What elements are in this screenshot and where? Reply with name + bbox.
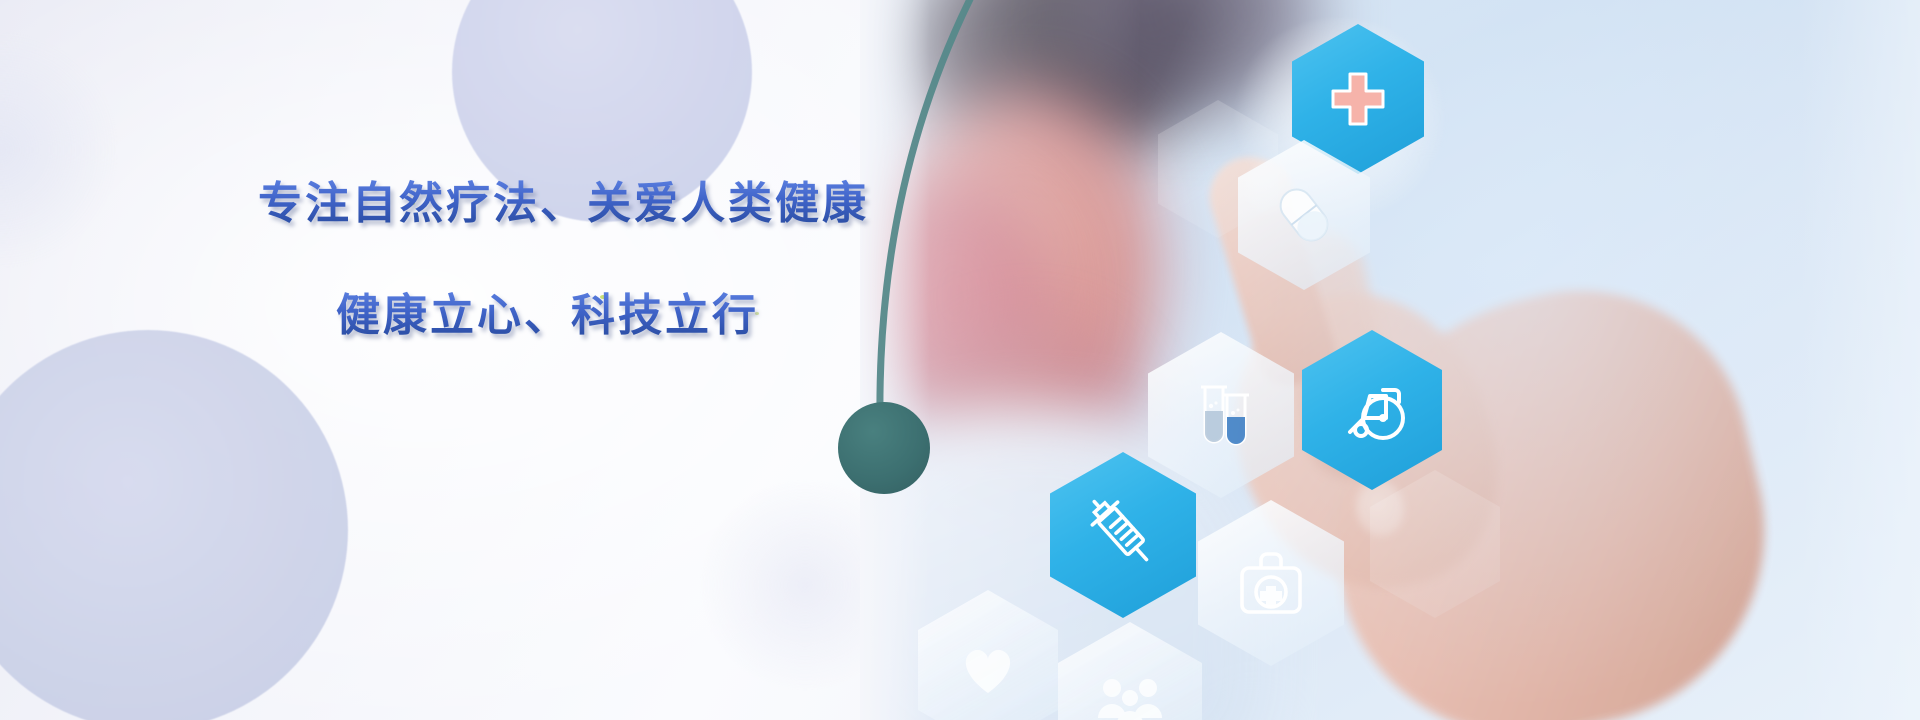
hexagon-icon-cluster — [900, 0, 1460, 720]
hero-banner: 专注自然疗法、关爱人类健康 健康立心、科技立行 — [0, 0, 1920, 720]
headline-block: 专注自然疗法、关爱人类健康 健康立心、科技立行 — [258, 178, 878, 342]
medical-bag-icon — [1228, 540, 1314, 626]
headline-line-1: 专注自然疗法、关爱人类健康 — [258, 178, 878, 230]
hex-wheelchair[interactable] — [1302, 330, 1442, 490]
syringe-icon — [1079, 491, 1167, 579]
wheelchair-icon — [1330, 368, 1414, 452]
family-group-icon — [1088, 662, 1172, 720]
medical-cross-icon — [1323, 64, 1393, 134]
headline-line-2: 健康立心、科技立行 — [336, 290, 878, 342]
right-edge-fade — [1800, 0, 1920, 720]
hex-family[interactable] — [1058, 622, 1202, 720]
hex-syringe[interactable] — [1050, 452, 1196, 618]
hex-medkit[interactable] — [1198, 500, 1344, 666]
heart-icon — [953, 635, 1023, 705]
test-tubes-icon — [1179, 373, 1263, 457]
hex-heart[interactable] — [918, 590, 1058, 720]
hex-testtubes[interactable] — [1148, 332, 1294, 498]
